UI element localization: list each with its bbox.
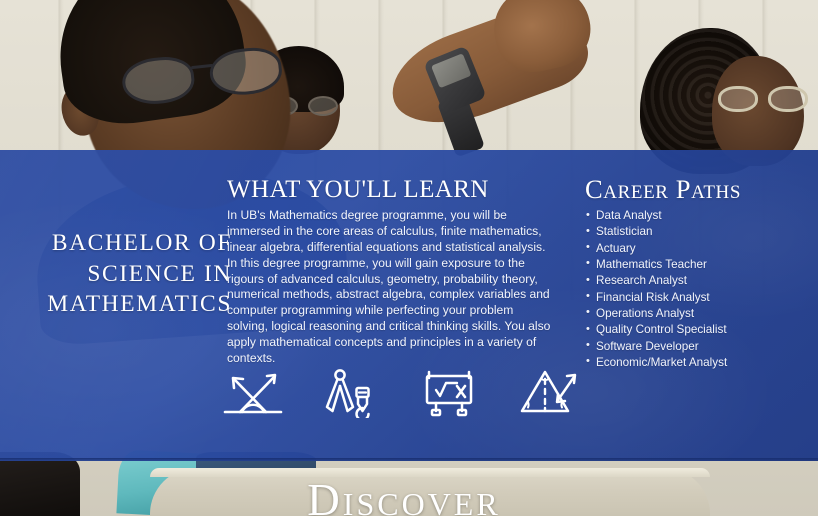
what-youll-learn-section: WHAT YOU'LL LEARN In UB's Mathematics de… [227, 176, 557, 367]
wristwatch-face [431, 53, 472, 88]
list-item: Quality Control Specialist [585, 322, 815, 338]
lens-right [208, 45, 284, 98]
list-item: Financial Risk Analyst [585, 290, 815, 306]
triangle-measure-icon [517, 368, 579, 418]
lens-right [768, 86, 808, 112]
career-paths-heading: Career Paths [585, 174, 815, 205]
list-item: Data Analyst [585, 208, 815, 224]
list-item: Operations Analyst [585, 306, 815, 322]
discover-wordmark: Discover [0, 478, 818, 516]
what-youll-learn-body: In UB's Mathematics degree programme, yo… [227, 208, 557, 367]
list-item: Economic/Market Analyst [585, 355, 815, 371]
career-paths-list: Data Analyst Statistician Actuary Mathem… [585, 208, 815, 371]
degree-title: BACHELOR OF SCIENCE IN MATHEMATICS [14, 228, 232, 320]
list-item: Statistician [585, 224, 815, 240]
what-youll-learn-heading: WHAT YOU'LL LEARN [227, 176, 557, 204]
lens-left [718, 86, 758, 112]
list-item: Mathematics Teacher [585, 257, 815, 273]
lens-left [120, 54, 196, 107]
poster-content: BACHELOR OF SCIENCE IN MATHEMATICS WHAT … [0, 150, 818, 461]
compass-pencil-icon [323, 368, 381, 418]
list-item: Actuary [585, 241, 815, 257]
angle-vectors-icon [222, 369, 284, 417]
mathematics-icon-row [222, 368, 579, 418]
list-item: Software Developer [585, 339, 815, 355]
list-item: Research Analyst [585, 273, 815, 289]
right-student-glasses [718, 86, 814, 112]
whiteboard-sqrt-icon [420, 368, 478, 418]
career-paths-section: Career Paths Data Analyst Statistician A… [585, 174, 815, 371]
programme-poster: BACHELOR OF SCIENCE IN MATHEMATICS WHAT … [0, 0, 818, 516]
lens-right [308, 96, 338, 116]
